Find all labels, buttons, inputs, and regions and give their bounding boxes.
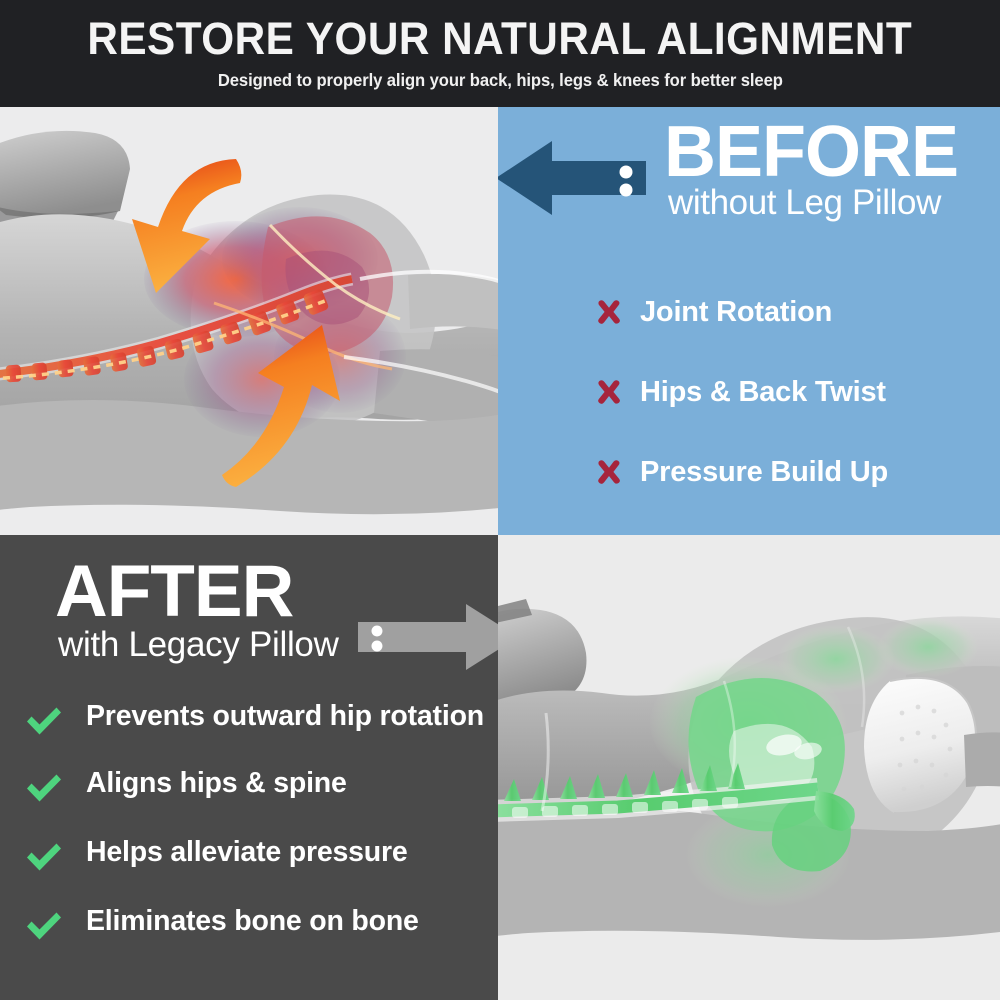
after-heading: AFTER bbox=[55, 557, 339, 626]
list-item-label: Pressure Build Up bbox=[640, 456, 888, 489]
after-list: Prevents outward hip rotation Aligns hip… bbox=[24, 700, 498, 948]
list-item-label: Joint Rotation bbox=[640, 296, 832, 329]
x-mark-icon bbox=[594, 297, 640, 327]
before-panel: BEFORE without Leg Pillow Joint Rotation bbox=[498, 107, 1000, 535]
before-list: Joint Rotation Hips & Back Twist Pressur… bbox=[594, 272, 1000, 512]
list-item: Aligns hips & spine bbox=[24, 767, 498, 810]
check-mark-icon bbox=[24, 700, 86, 743]
list-item: Prevents outward hip rotation bbox=[24, 700, 498, 743]
list-item: Hips & Back Twist bbox=[594, 352, 1000, 432]
arrow-left-icon bbox=[498, 137, 646, 219]
page-subtitle: Designed to properly align your back, hi… bbox=[218, 70, 783, 91]
page-title: RESTORE YOUR NATURAL ALIGNMENT bbox=[88, 16, 913, 61]
before-heading: BEFORE bbox=[664, 119, 958, 187]
list-item-label: Prevents outward hip rotation bbox=[86, 700, 484, 733]
list-item: Joint Rotation bbox=[594, 272, 1000, 352]
list-item-label: Hips & Back Twist bbox=[640, 376, 886, 409]
after-subheading: with Legacy Pillow bbox=[55, 627, 339, 664]
after-text-group: AFTER with Legacy Pillow bbox=[55, 557, 339, 664]
before-illustration-panel bbox=[0, 107, 498, 535]
arrow-right-icon bbox=[358, 602, 498, 672]
list-item: Pressure Build Up bbox=[594, 432, 1000, 512]
head-pillow-shape bbox=[0, 131, 130, 218]
after-illustration-panel bbox=[498, 535, 1000, 1000]
before-text-group: BEFORE without Leg Pillow bbox=[664, 119, 958, 221]
x-mark-icon bbox=[594, 457, 640, 487]
check-mark-icon bbox=[24, 905, 86, 948]
aligned-spine-illustration bbox=[498, 535, 1000, 1000]
infographic-root: RESTORE YOUR NATURAL ALIGNMENT Designed … bbox=[0, 0, 1000, 1000]
after-panel: AFTER with Legacy Pillow Prevents outwar bbox=[0, 535, 498, 1000]
list-item: Eliminates bone on bone bbox=[24, 905, 498, 948]
list-item-label: Eliminates bone on bone bbox=[86, 905, 419, 938]
before-subheading: without Leg Pillow bbox=[664, 185, 958, 222]
check-mark-icon bbox=[24, 767, 86, 810]
misaligned-spine-illustration bbox=[0, 107, 498, 535]
list-item-label: Aligns hips & spine bbox=[86, 767, 347, 800]
header-banner: RESTORE YOUR NATURAL ALIGNMENT Designed … bbox=[0, 0, 1000, 107]
x-mark-icon bbox=[594, 377, 640, 407]
after-heading-group: AFTER with Legacy Pillow bbox=[0, 557, 498, 687]
list-item: Helps alleviate pressure bbox=[24, 836, 498, 879]
check-mark-icon bbox=[24, 836, 86, 879]
list-item-label: Helps alleviate pressure bbox=[86, 836, 408, 869]
